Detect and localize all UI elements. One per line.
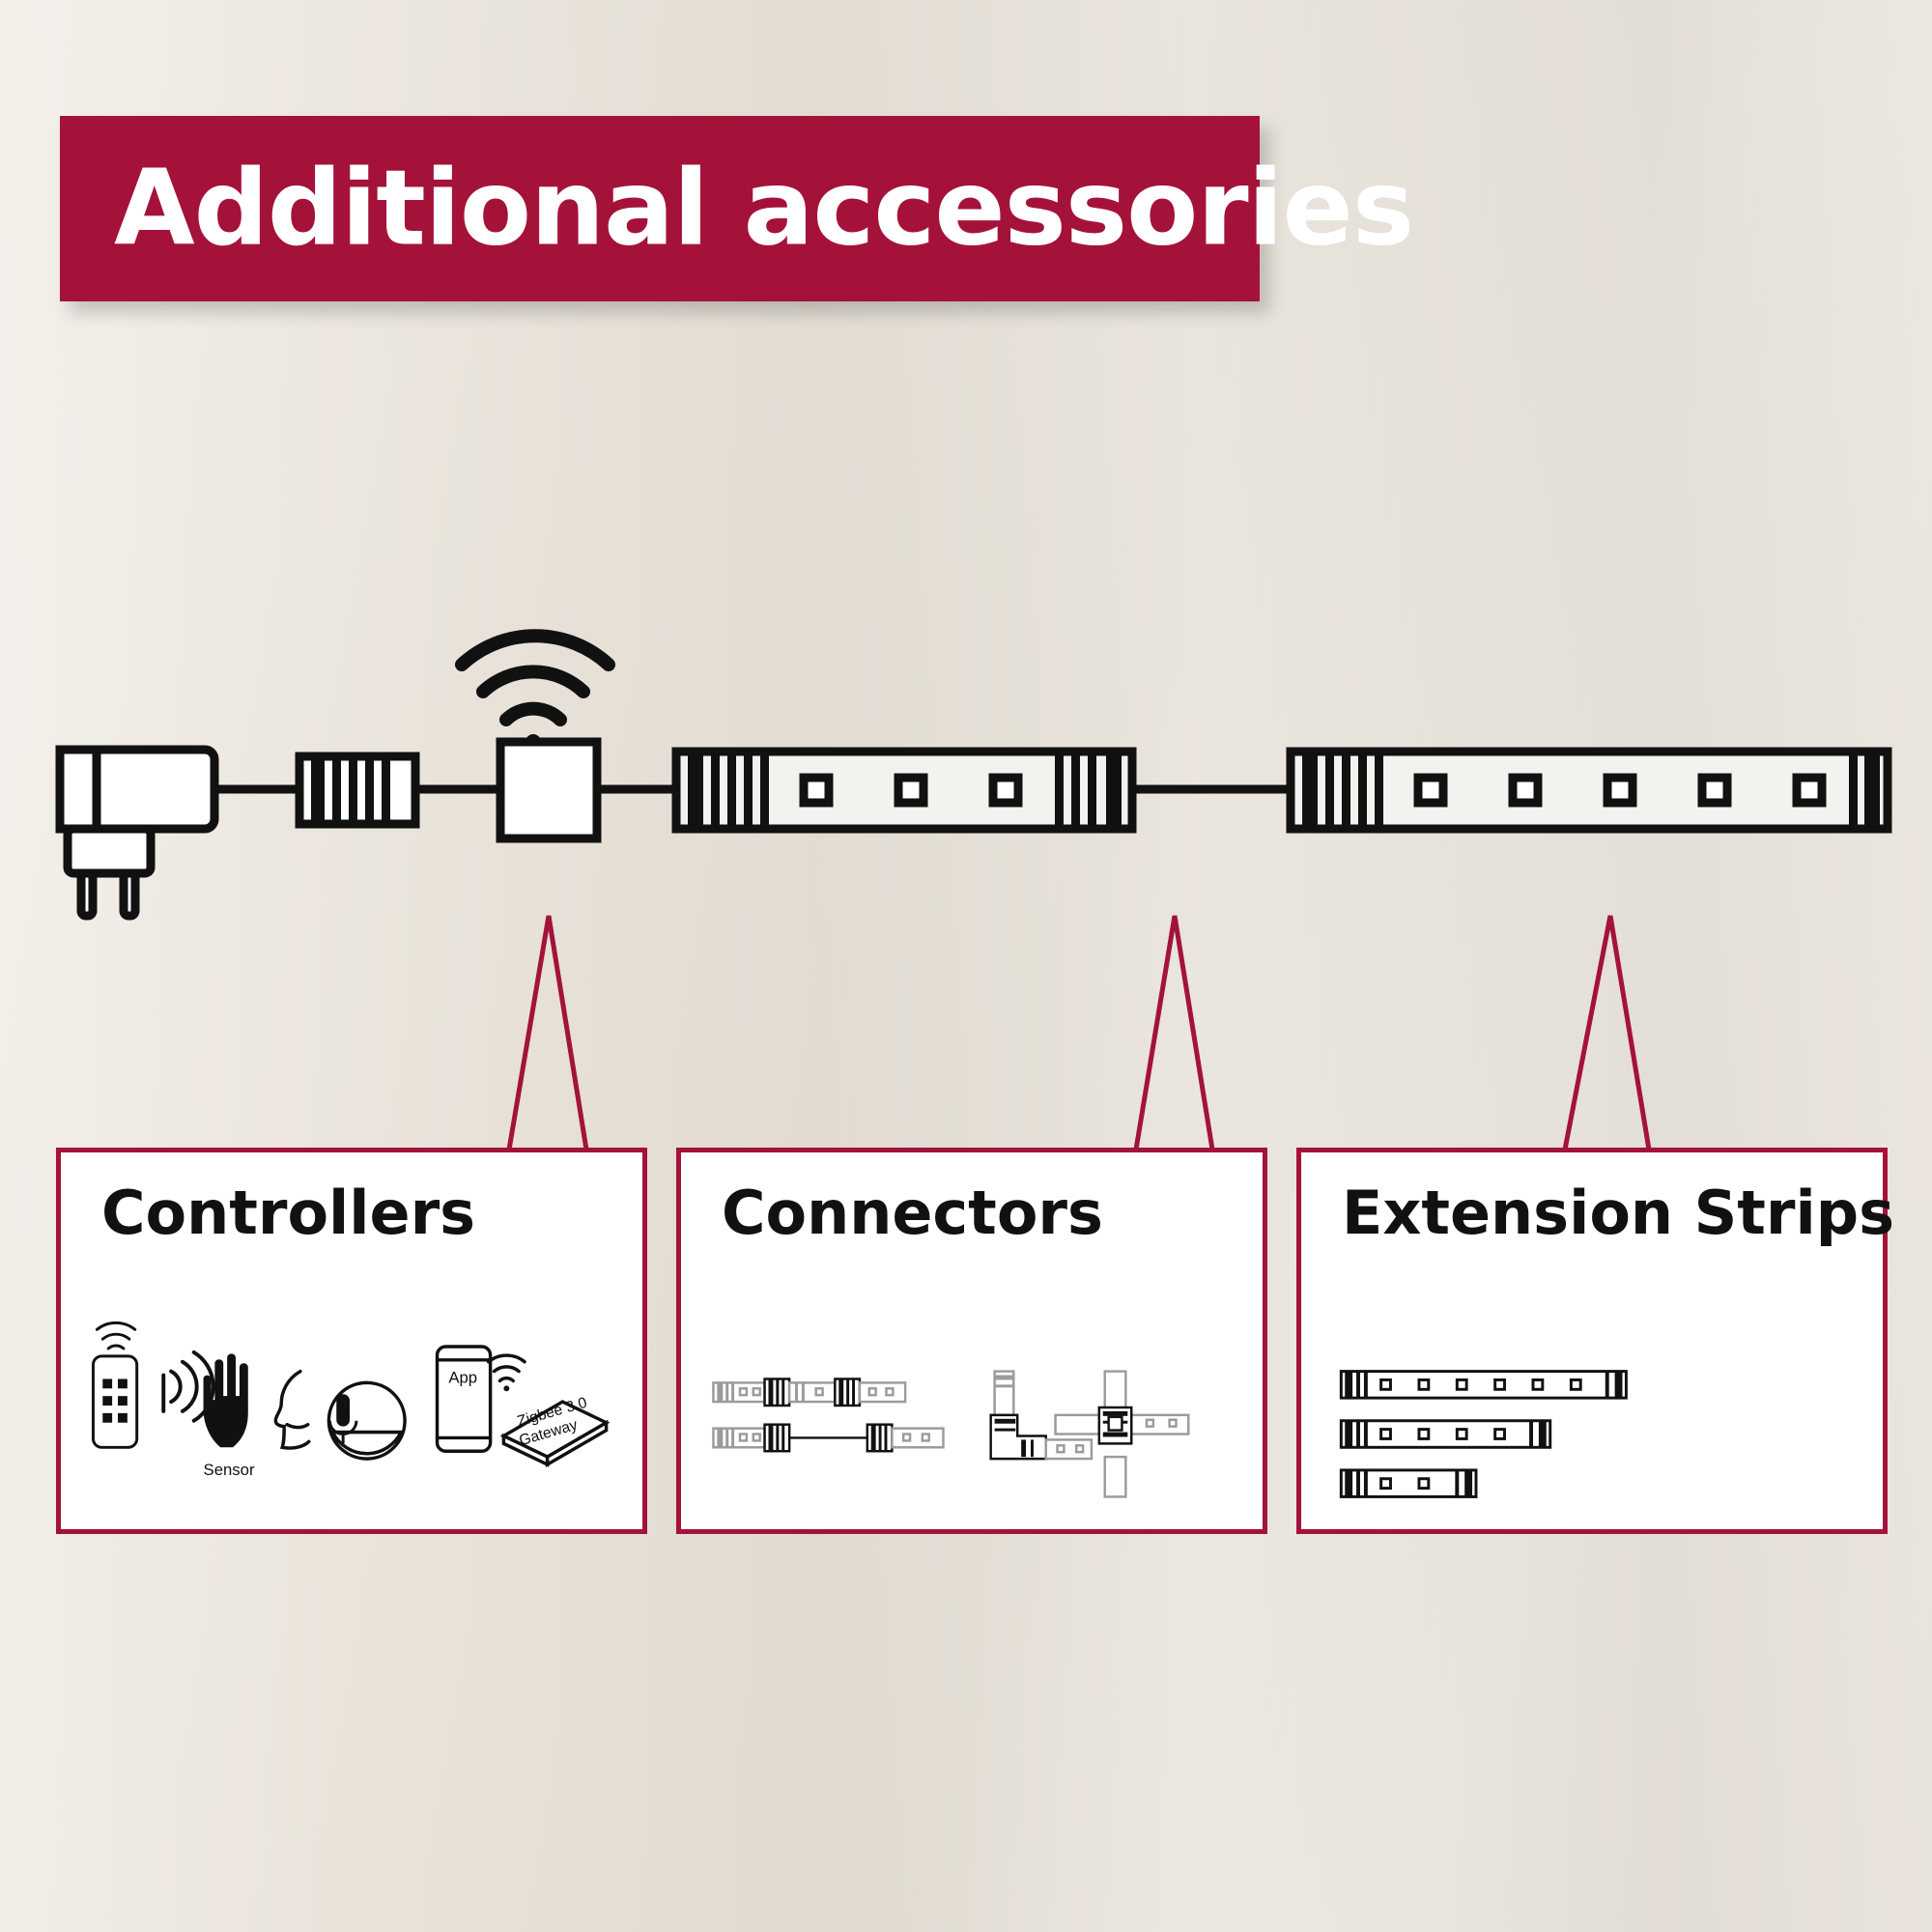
card-connectors[interactable]: Connectors bbox=[676, 1148, 1267, 1534]
wifi-small-icon bbox=[489, 1355, 525, 1391]
remote-control-icon bbox=[93, 1322, 136, 1447]
card-controllers-title: Controllers bbox=[101, 1178, 475, 1248]
extension-strip-long-icon bbox=[1341, 1372, 1626, 1399]
pointer-connectors bbox=[1136, 916, 1212, 1150]
poster-root: Additional accessories bbox=[0, 0, 1932, 1932]
page-title: Additional accessories bbox=[114, 149, 1413, 270]
cross-connector-icon bbox=[1056, 1372, 1189, 1497]
card-connectors-title: Connectors bbox=[722, 1178, 1103, 1248]
extension-strip-medium-icon bbox=[1341, 1421, 1549, 1448]
sensor-label: Sensor bbox=[204, 1461, 255, 1479]
extension-strip-short-icon bbox=[1341, 1470, 1476, 1497]
pointer-extensions bbox=[1565, 916, 1649, 1150]
cable-connector-icon bbox=[713, 1378, 943, 1451]
led-strip-segment-1 bbox=[676, 752, 1132, 829]
voice-assistant-icon bbox=[275, 1372, 308, 1448]
power-plug-pins-icon bbox=[68, 829, 151, 916]
power-supply-icon bbox=[60, 750, 214, 829]
card-connectors-art bbox=[681, 1278, 1263, 1534]
card-controllers-art: Sensor App bbox=[61, 1278, 642, 1534]
card-extensions[interactable]: Extension Strips bbox=[1296, 1148, 1888, 1534]
card-extensions-title: Extension Strips bbox=[1342, 1178, 1894, 1248]
app-label: App bbox=[448, 1368, 477, 1386]
wireless-controller-box bbox=[500, 742, 597, 838]
pointer-controllers bbox=[509, 916, 586, 1150]
led-strip-segment-2 bbox=[1291, 752, 1888, 829]
smartphone-app-icon bbox=[438, 1347, 491, 1451]
callout-pointers bbox=[509, 916, 1649, 1150]
strip-connector-1 bbox=[299, 756, 415, 824]
wifi-waves-icon bbox=[462, 636, 609, 750]
card-extensions-art bbox=[1301, 1278, 1883, 1534]
card-controllers[interactable]: Controllers bbox=[56, 1148, 647, 1534]
title-banner: Additional accessories bbox=[60, 116, 1260, 301]
